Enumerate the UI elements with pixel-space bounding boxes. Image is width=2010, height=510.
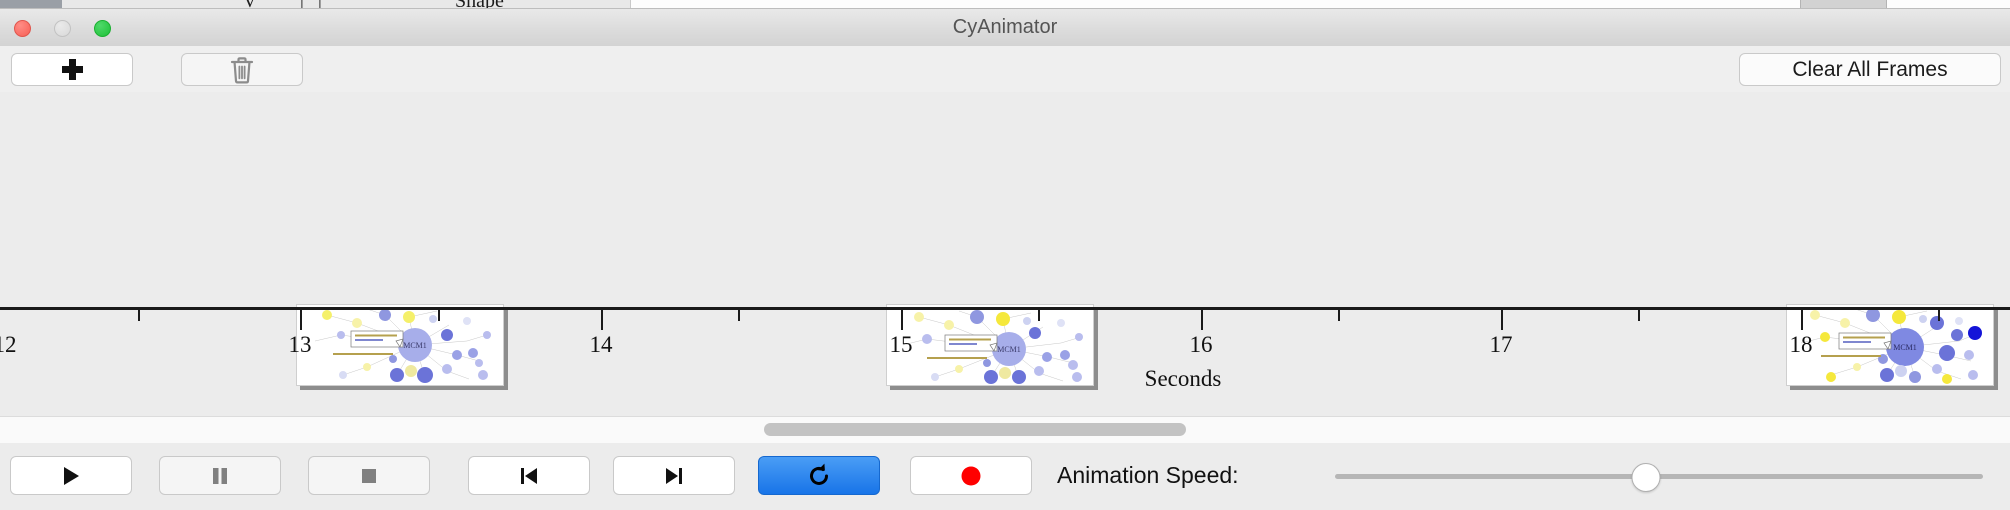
axis-minor-tick	[738, 310, 740, 321]
network-graph-preview: MCM1	[887, 305, 1093, 385]
thumbnail-card: MCM1	[1786, 304, 1994, 386]
animation-speed-slider[interactable]	[1335, 456, 1983, 495]
axis-major-tick	[1201, 310, 1203, 330]
axis-major-tick	[601, 310, 603, 330]
loop-icon	[805, 462, 833, 490]
timeline-panel[interactable]: MCM1	[0, 92, 2010, 416]
delete-frame-button[interactable]	[181, 53, 303, 86]
axis-tick-label: 18	[1790, 332, 1813, 358]
axis-title: Seconds	[1145, 366, 1222, 392]
toolbar: Clear All Frames	[0, 46, 2010, 93]
axis-tick-label: 17	[1490, 332, 1513, 358]
svg-text:MCM1: MCM1	[997, 345, 1021, 354]
skip-to-start-button[interactable]	[468, 456, 590, 495]
transport-bar: Animation Speed:	[0, 443, 2010, 510]
scrollbar-thumb[interactable]	[764, 423, 1186, 436]
stop-button[interactable]	[308, 456, 430, 495]
skip-forward-icon	[662, 464, 686, 488]
axis-major-tick	[300, 310, 302, 330]
animation-speed-label: Animation Speed:	[1057, 456, 1239, 495]
axis-tick-label: 14	[590, 332, 613, 358]
axis-tick-label: 15	[890, 332, 913, 358]
stop-icon	[357, 464, 381, 488]
network-graph-preview: MCM1	[297, 305, 503, 385]
title-bar: CyAnimator	[0, 9, 2010, 47]
axis-major-tick	[901, 310, 903, 330]
axis-minor-tick	[438, 310, 440, 321]
axis-major-tick	[1801, 310, 1803, 330]
svg-text:MCM1: MCM1	[403, 341, 427, 350]
cyanimator-window: V | | Shape CyAnimator Clear All Frames	[0, 0, 2010, 510]
loop-button[interactable]	[758, 456, 880, 495]
axis-minor-tick	[1038, 310, 1040, 321]
play-button[interactable]	[10, 456, 132, 495]
axis-minor-tick	[1638, 310, 1640, 321]
axis-tick-label: 13	[289, 332, 312, 358]
play-icon	[59, 464, 83, 488]
trash-icon	[229, 56, 255, 84]
skip-to-end-button[interactable]	[613, 456, 735, 495]
svg-text:MCM1: MCM1	[1893, 343, 1917, 352]
add-frame-button[interactable]	[11, 53, 133, 86]
clear-all-frames-button[interactable]: Clear All Frames	[1739, 53, 2001, 86]
window-title: CyAnimator	[0, 9, 2010, 46]
axis-minor-tick	[1338, 310, 1340, 321]
keyframe-thumbnail[interactable]: MCM1	[886, 304, 1098, 390]
axis-tick-label: 16	[1190, 332, 1213, 358]
keyframe-thumbnail[interactable]: MCM1	[296, 304, 508, 390]
pause-button[interactable]	[159, 456, 281, 495]
background-window-strip: V | | Shape	[0, 0, 2010, 9]
axis-minor-tick	[1938, 310, 1940, 321]
record-button[interactable]	[910, 456, 1032, 495]
axis-major-tick	[1501, 310, 1503, 330]
thumbnail-card: MCM1	[886, 304, 1094, 386]
record-icon	[959, 464, 983, 488]
keyframe-thumbnail[interactable]: MCM1	[1786, 304, 1998, 390]
pause-icon	[208, 464, 232, 488]
network-graph-preview: MCM1	[1787, 305, 1993, 385]
skip-back-icon	[517, 464, 541, 488]
timeline-scrollbar[interactable]	[0, 416, 2010, 444]
slider-thumb[interactable]	[1632, 463, 1661, 492]
plus-icon	[62, 59, 83, 80]
thumbnail-card: MCM1	[296, 304, 504, 386]
axis-tick-label: 12	[0, 332, 17, 358]
axis-minor-tick	[138, 310, 140, 321]
